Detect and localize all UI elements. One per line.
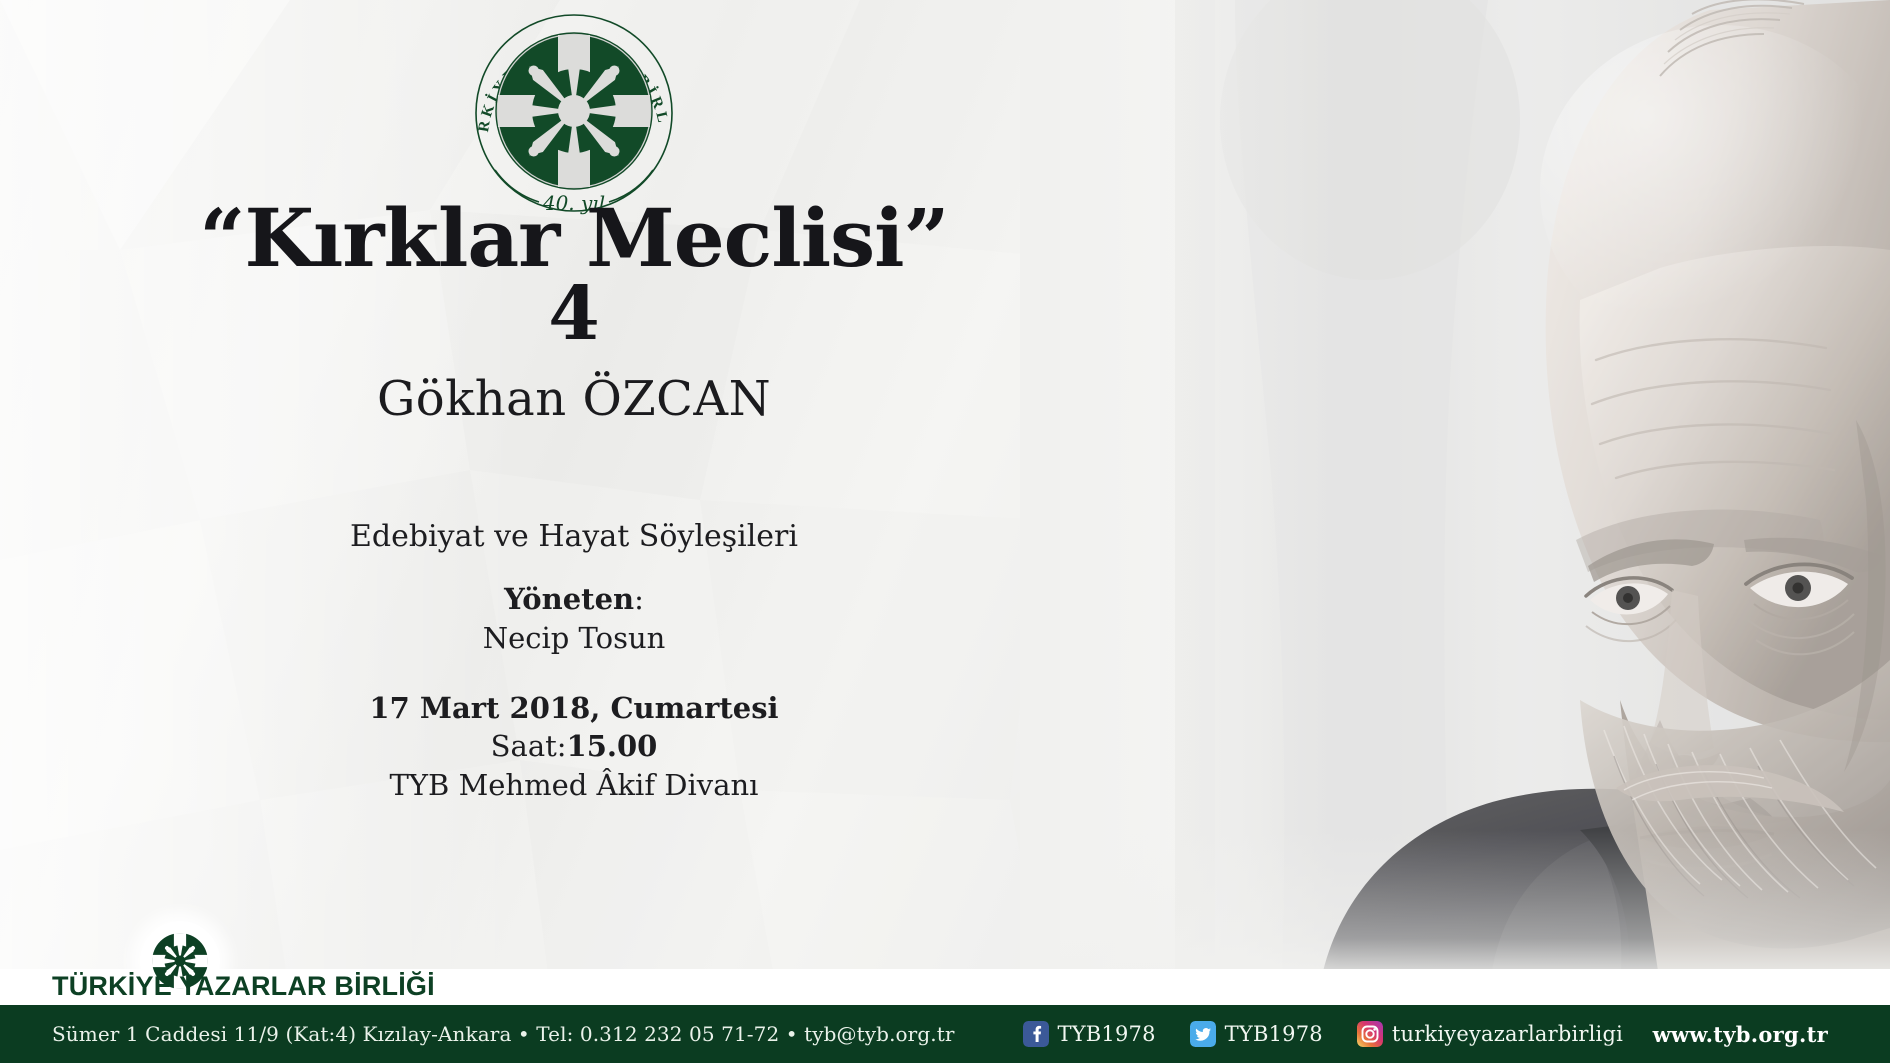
website-url[interactable]: www.tyb.org.tr [1653,1022,1828,1047]
moderator-colon: : [634,582,644,616]
event-title-number: 4 [0,276,1148,354]
moderator-name: Necip Tosun [0,619,1148,657]
footer-address: Sümer 1 Caddesi 11/9 (Kat:4) Kızılay-Ank… [52,1022,955,1046]
event-time-row: Saat:15.00 [0,727,1148,766]
organization-name: TÜRKİYE YAZARLAR BİRLİĞİ [52,971,435,1002]
speaker-name: Gökhan ÖZCAN [0,371,1148,427]
instagram-icon[interactable] [1357,1021,1383,1047]
event-poster: TÜRKİYE YAZARLAR BİRLİĞİ [0,0,1890,1063]
event-datetime-block: 17 Mart 2018, Cumartesi Saat:15.00 TYB M… [0,689,1148,805]
speaker-portrait [1020,0,1890,985]
event-date: 17 Mart 2018, Cumartesi [0,689,1148,728]
facebook-handle[interactable]: TYB1978 [1058,1022,1156,1046]
footer-socials: TYB1978 TYB1978 [1023,1021,1624,1047]
moderator-label: Yöneten [504,582,634,616]
facebook-icon[interactable] [1023,1021,1049,1047]
moderator-label-row: Yöneten: [0,580,1148,618]
event-time-value: 15.00 [567,729,658,763]
poster-content: “Kırklar Meclisi” 4 Gökhan ÖZCAN Edebiya… [0,0,1148,805]
moderator-block: Yöneten: Necip Tosun [0,580,1148,657]
event-title: “Kırklar Meclisi” [0,198,1148,280]
social-instagram[interactable]: turkiyeyazarlarbirligi [1357,1021,1623,1047]
footer-bar: Sümer 1 Caddesi 11/9 (Kat:4) Kızılay-Ank… [0,1005,1890,1063]
social-twitter[interactable]: TYB1978 [1190,1021,1323,1047]
twitter-handle[interactable]: TYB1978 [1225,1022,1323,1046]
social-facebook[interactable]: TYB1978 [1023,1021,1156,1047]
twitter-icon[interactable] [1190,1021,1216,1047]
event-venue: TYB Mehmed Âkif Divanı [0,766,1148,805]
event-series: Edebiyat ve Hayat Söyleşileri [0,519,1148,554]
instagram-handle[interactable]: turkiyeyazarlarbirligi [1392,1022,1623,1046]
event-time-label: Saat: [491,729,567,763]
